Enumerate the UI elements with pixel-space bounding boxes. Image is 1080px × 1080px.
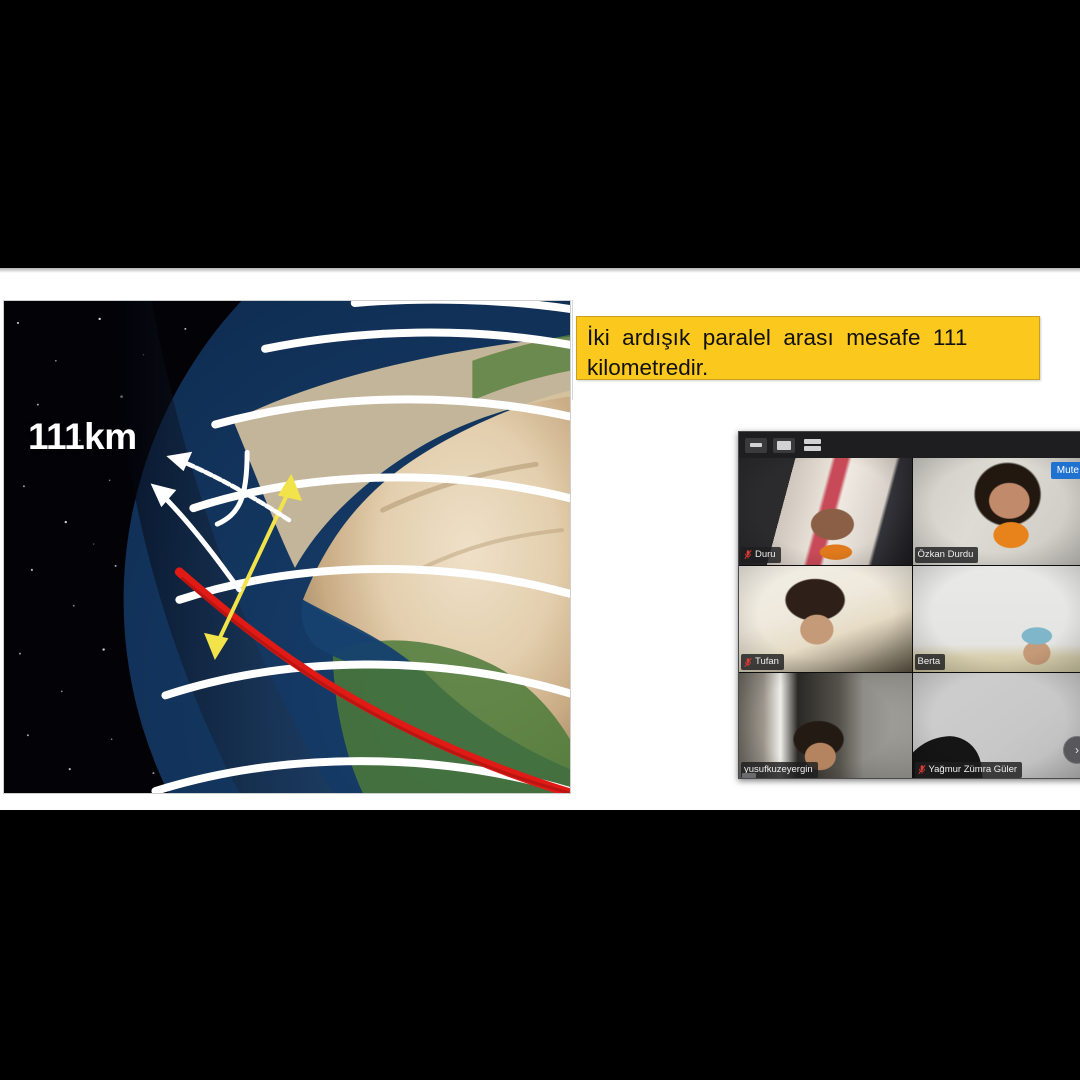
speaker-view-icon[interactable]	[773, 438, 795, 453]
participant-grid: Duru Mute Özkan Durdu	[739, 458, 1080, 779]
participant-name-badge: Tufan	[741, 654, 784, 670]
earth-parallels-figure: 111km	[3, 300, 571, 794]
participant-name-text: Tufan	[755, 656, 779, 668]
gallery-view-icon[interactable]	[829, 438, 846, 452]
participant-tile-duru[interactable]: Duru	[739, 458, 912, 565]
video-view-toolbar	[739, 432, 1080, 458]
participant-name-badge: Yağmur Zümra Güler	[915, 762, 1023, 778]
slide-caption-box: İki ardışık paralel arası mesafe 111 kil…	[576, 316, 1040, 380]
video-conference-window[interactable]: Duru Mute Özkan Durdu	[738, 431, 1080, 779]
participant-tile-yusufkuzeyergin[interactable]: yusufkuzeyergin	[739, 673, 912, 779]
screen-recording-canvas: 111km İki ardışık paralel arası mesafe 1…	[0, 0, 1080, 1080]
participant-tile-yagmur-zumra-guler[interactable]: › Yağmur Zümra Güler	[913, 673, 1080, 779]
participant-name-text: Berta	[918, 656, 941, 668]
sidebar-view-icon[interactable]	[801, 438, 823, 453]
participant-name-badge: Duru	[741, 547, 781, 563]
slide-textbox-guide	[572, 300, 573, 400]
participant-name-badge: Özkan Durdu	[915, 547, 979, 563]
mic-muted-icon	[744, 549, 752, 560]
caption-line-2: kilometredir.	[587, 353, 1029, 383]
earth-diagram-svg	[4, 301, 570, 793]
window-resize-handle[interactable]	[742, 773, 756, 778]
participant-tile-berta[interactable]: Berta	[913, 566, 1080, 673]
participant-name-text: Yağmur Zümra Güler	[929, 764, 1018, 776]
mute-button[interactable]: Mute	[1051, 462, 1080, 479]
mic-muted-icon	[918, 764, 926, 775]
participant-name-text: Özkan Durdu	[918, 549, 974, 561]
minimize-view-icon[interactable]	[745, 438, 767, 453]
caption-line-1: İki ardışık paralel arası mesafe 111	[587, 323, 1029, 353]
mic-muted-icon	[744, 657, 752, 668]
participant-tile-ozkan-durdu[interactable]: Mute Özkan Durdu	[913, 458, 1080, 565]
participant-name-text: Duru	[755, 549, 776, 561]
participant-tile-tufan[interactable]: Tufan	[739, 566, 912, 673]
participant-name-badge: Berta	[915, 654, 946, 670]
